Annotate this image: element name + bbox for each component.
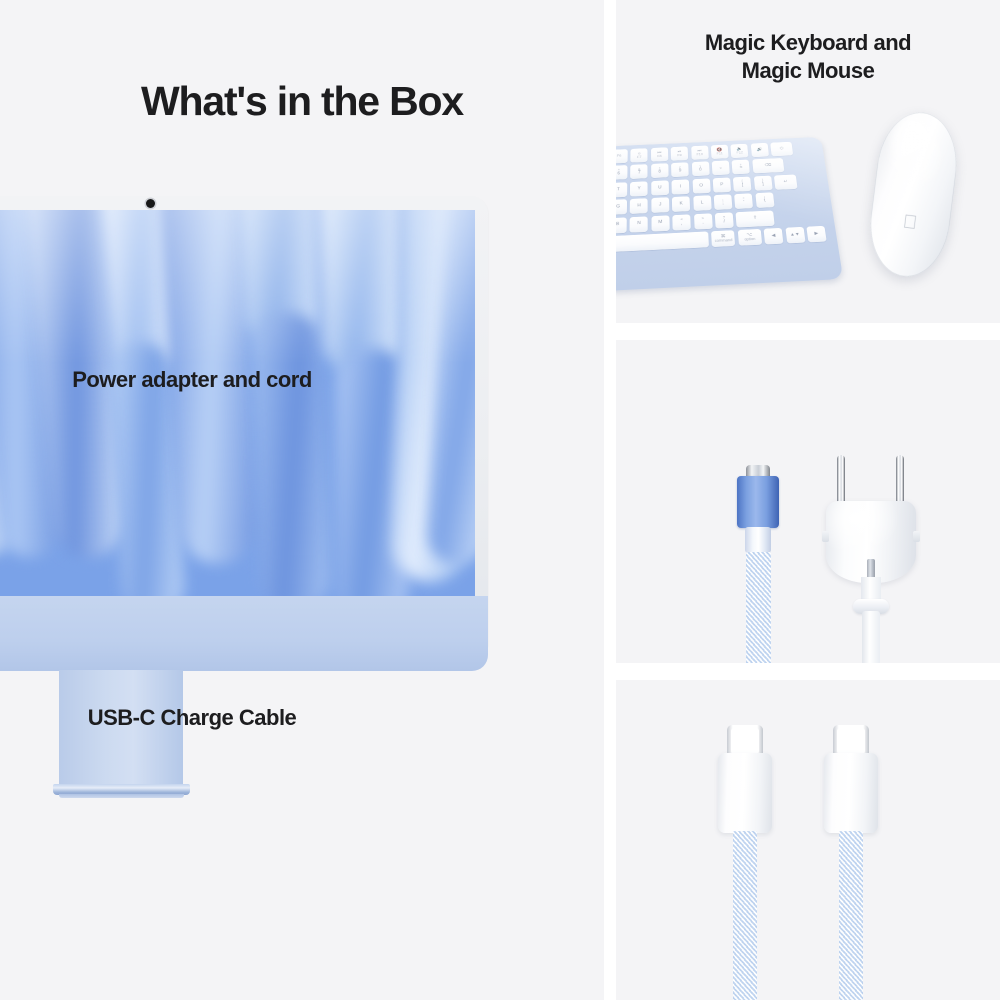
key-sublabel: F12	[736, 151, 743, 154]
key-sublabel: )	[700, 165, 701, 168]
title-line-1: USB-C Charge Cable	[0, 704, 384, 732]
key-sublabel: +	[740, 164, 742, 167]
key-sublabel: &	[638, 168, 641, 171]
keyboard-key: O	[692, 178, 710, 193]
camera-icon	[146, 199, 155, 208]
key-sublabel: "	[743, 197, 745, 201]
keyboard-key: U	[651, 180, 669, 195]
usb-c-connector-left	[715, 725, 775, 1000]
imac-screen	[0, 210, 475, 596]
mouse-highlight	[886, 115, 943, 191]
keyboard-key: ▶	[806, 226, 826, 243]
keyboard-key: ?/	[715, 212, 734, 228]
wallpaper-ribbon	[251, 311, 331, 596]
keyboard-key: |\	[755, 193, 774, 209]
keyboard-key: ⌥option	[738, 229, 762, 246]
keyboard-key: ^6	[616, 165, 628, 180]
page-title: What's in the Box	[0, 78, 604, 125]
keyboard-key: >.	[694, 213, 713, 229]
keyboard-key: H	[630, 198, 648, 214]
keyboard-key: I	[672, 179, 690, 194]
plug-side-tab-left	[822, 531, 829, 542]
keyboard-key: T	[616, 182, 627, 197]
keyboard-key: ⏻	[770, 142, 793, 157]
connector-collar	[745, 527, 771, 553]
plug-head	[826, 501, 916, 583]
ac-power-plug	[826, 455, 916, 663]
keyboard-key: 🔉F12	[731, 144, 749, 158]
magic-mouse: 	[864, 108, 963, 281]
panel-title-power-adapter: Power adapter and cord	[0, 366, 384, 394]
key-sublabel: F10	[696, 153, 703, 156]
usb-c-cable-art	[616, 680, 1000, 1000]
keyboard-key: J	[651, 197, 669, 213]
usb-c-housing	[718, 753, 772, 833]
apple-logo-icon: 	[902, 212, 918, 233]
keyboard-key: N	[630, 216, 648, 232]
key-sublabel: (	[679, 166, 680, 169]
key-sublabel: F9	[677, 154, 681, 157]
power-adapter-art	[616, 340, 1000, 663]
keyboard-key: F6	[616, 149, 628, 164]
usb-c-cable-braid	[733, 831, 757, 1000]
keyboard-key: ↵	[774, 174, 798, 189]
usb-c-housing	[824, 753, 878, 833]
key-sublabel: {	[741, 180, 743, 183]
key-sublabel: ^	[618, 169, 620, 172]
keyboard-key: P	[713, 177, 731, 192]
keyboard-key: L	[693, 195, 711, 211]
key-sublabel: F6	[617, 155, 621, 158]
keyboard-key: ⌘command	[711, 230, 735, 247]
key-sublabel: ?	[723, 216, 725, 220]
keyboard-key: ⏮F8	[651, 147, 668, 161]
title-line-1: Power adapter and cord	[0, 366, 384, 394]
keyboard-key: ⇧	[736, 210, 775, 227]
plug-cord	[862, 611, 880, 663]
keyboard-key: ◀	[764, 228, 784, 245]
key-sublabel: }	[762, 179, 764, 182]
keyboard-key: {[	[733, 176, 752, 191]
key-sublabel: command	[715, 239, 733, 244]
panel-title-keyboard-mouse: Magic Keyboard and Magic Mouse	[616, 29, 1000, 85]
key-sublabel: *	[659, 167, 661, 170]
keyboard-key: Y	[630, 181, 648, 196]
key-sublabel: _	[719, 164, 721, 167]
key-sublabel: F11	[717, 152, 723, 155]
keyboard-key: (9	[671, 163, 689, 178]
keyboard-key: 🔇F11	[711, 145, 729, 159]
keyboard-key: ▲▼	[785, 227, 805, 244]
keyboard-key: )0	[691, 162, 709, 177]
power-connector-magsafe	[729, 465, 787, 663]
key-sublabel: >	[702, 217, 704, 221]
imac-display-housing	[0, 196, 488, 646]
connector-blue-barrel	[737, 476, 779, 528]
keyboard-key: _-	[712, 161, 730, 176]
title-line-1: Magic Keyboard and	[616, 29, 1000, 57]
keyboard-key: ⌫	[752, 158, 784, 173]
key-sublabel: F7	[637, 156, 641, 159]
key-sublabel: <	[680, 218, 682, 222]
panel-title-usb-c-cable: USB-C Charge Cable	[0, 704, 384, 732]
keyboard-key: &7	[630, 164, 647, 179]
keyboard-key: }]	[754, 175, 773, 190]
power-cable-braid	[746, 552, 771, 663]
imac-chin	[0, 596, 488, 671]
plug-side-tab-right	[913, 531, 920, 542]
key-sublabel: :	[722, 198, 723, 201]
keyboard-key: M	[651, 215, 669, 231]
keyboard-key: ☼F7	[631, 148, 648, 163]
keyboard-key: G	[616, 199, 627, 215]
usb-c-cable-braid	[839, 831, 863, 1000]
keyboard-key: B	[616, 217, 627, 233]
magic-keyboard: F6☼F7⏮F8⏯F9⏭F10🔇F11🔉F12🔊⏻ ^6&7*8(9)0_-+=…	[616, 137, 843, 291]
keyboard-key: 🔊	[750, 143, 768, 157]
key-sublabel: F8	[657, 155, 661, 158]
keyboard-key: ⏯F9	[671, 146, 688, 160]
desktop-wallpaper	[0, 210, 475, 596]
usb-c-connector-right	[821, 725, 881, 1000]
key-sublabel: |	[764, 196, 765, 199]
imac-stand-foot	[53, 784, 190, 795]
title-line-2: Magic Mouse	[616, 57, 1000, 85]
keyboard-key: K	[672, 196, 690, 212]
keyboard-key: :;	[714, 194, 733, 210]
key-sublabel: option	[744, 237, 755, 241]
keyboard-key: "'	[734, 193, 753, 209]
whats-in-the-box-figure: What's in the Box Magic Keyboard and Mag…	[0, 0, 1000, 1000]
keyboard-key: <,	[672, 214, 691, 230]
imac-panel: What's in the Box	[0, 0, 604, 1000]
keyboard-key: +=	[732, 160, 750, 175]
mouse-body: 	[864, 108, 963, 281]
panel-magic-keyboard-and-mouse: Magic Keyboard and Magic Mouse F6☼F7⏮F8⏯…	[616, 0, 1000, 323]
keyboard-key: ⏭F10	[691, 146, 709, 160]
keyboard-key: *8	[651, 164, 669, 179]
